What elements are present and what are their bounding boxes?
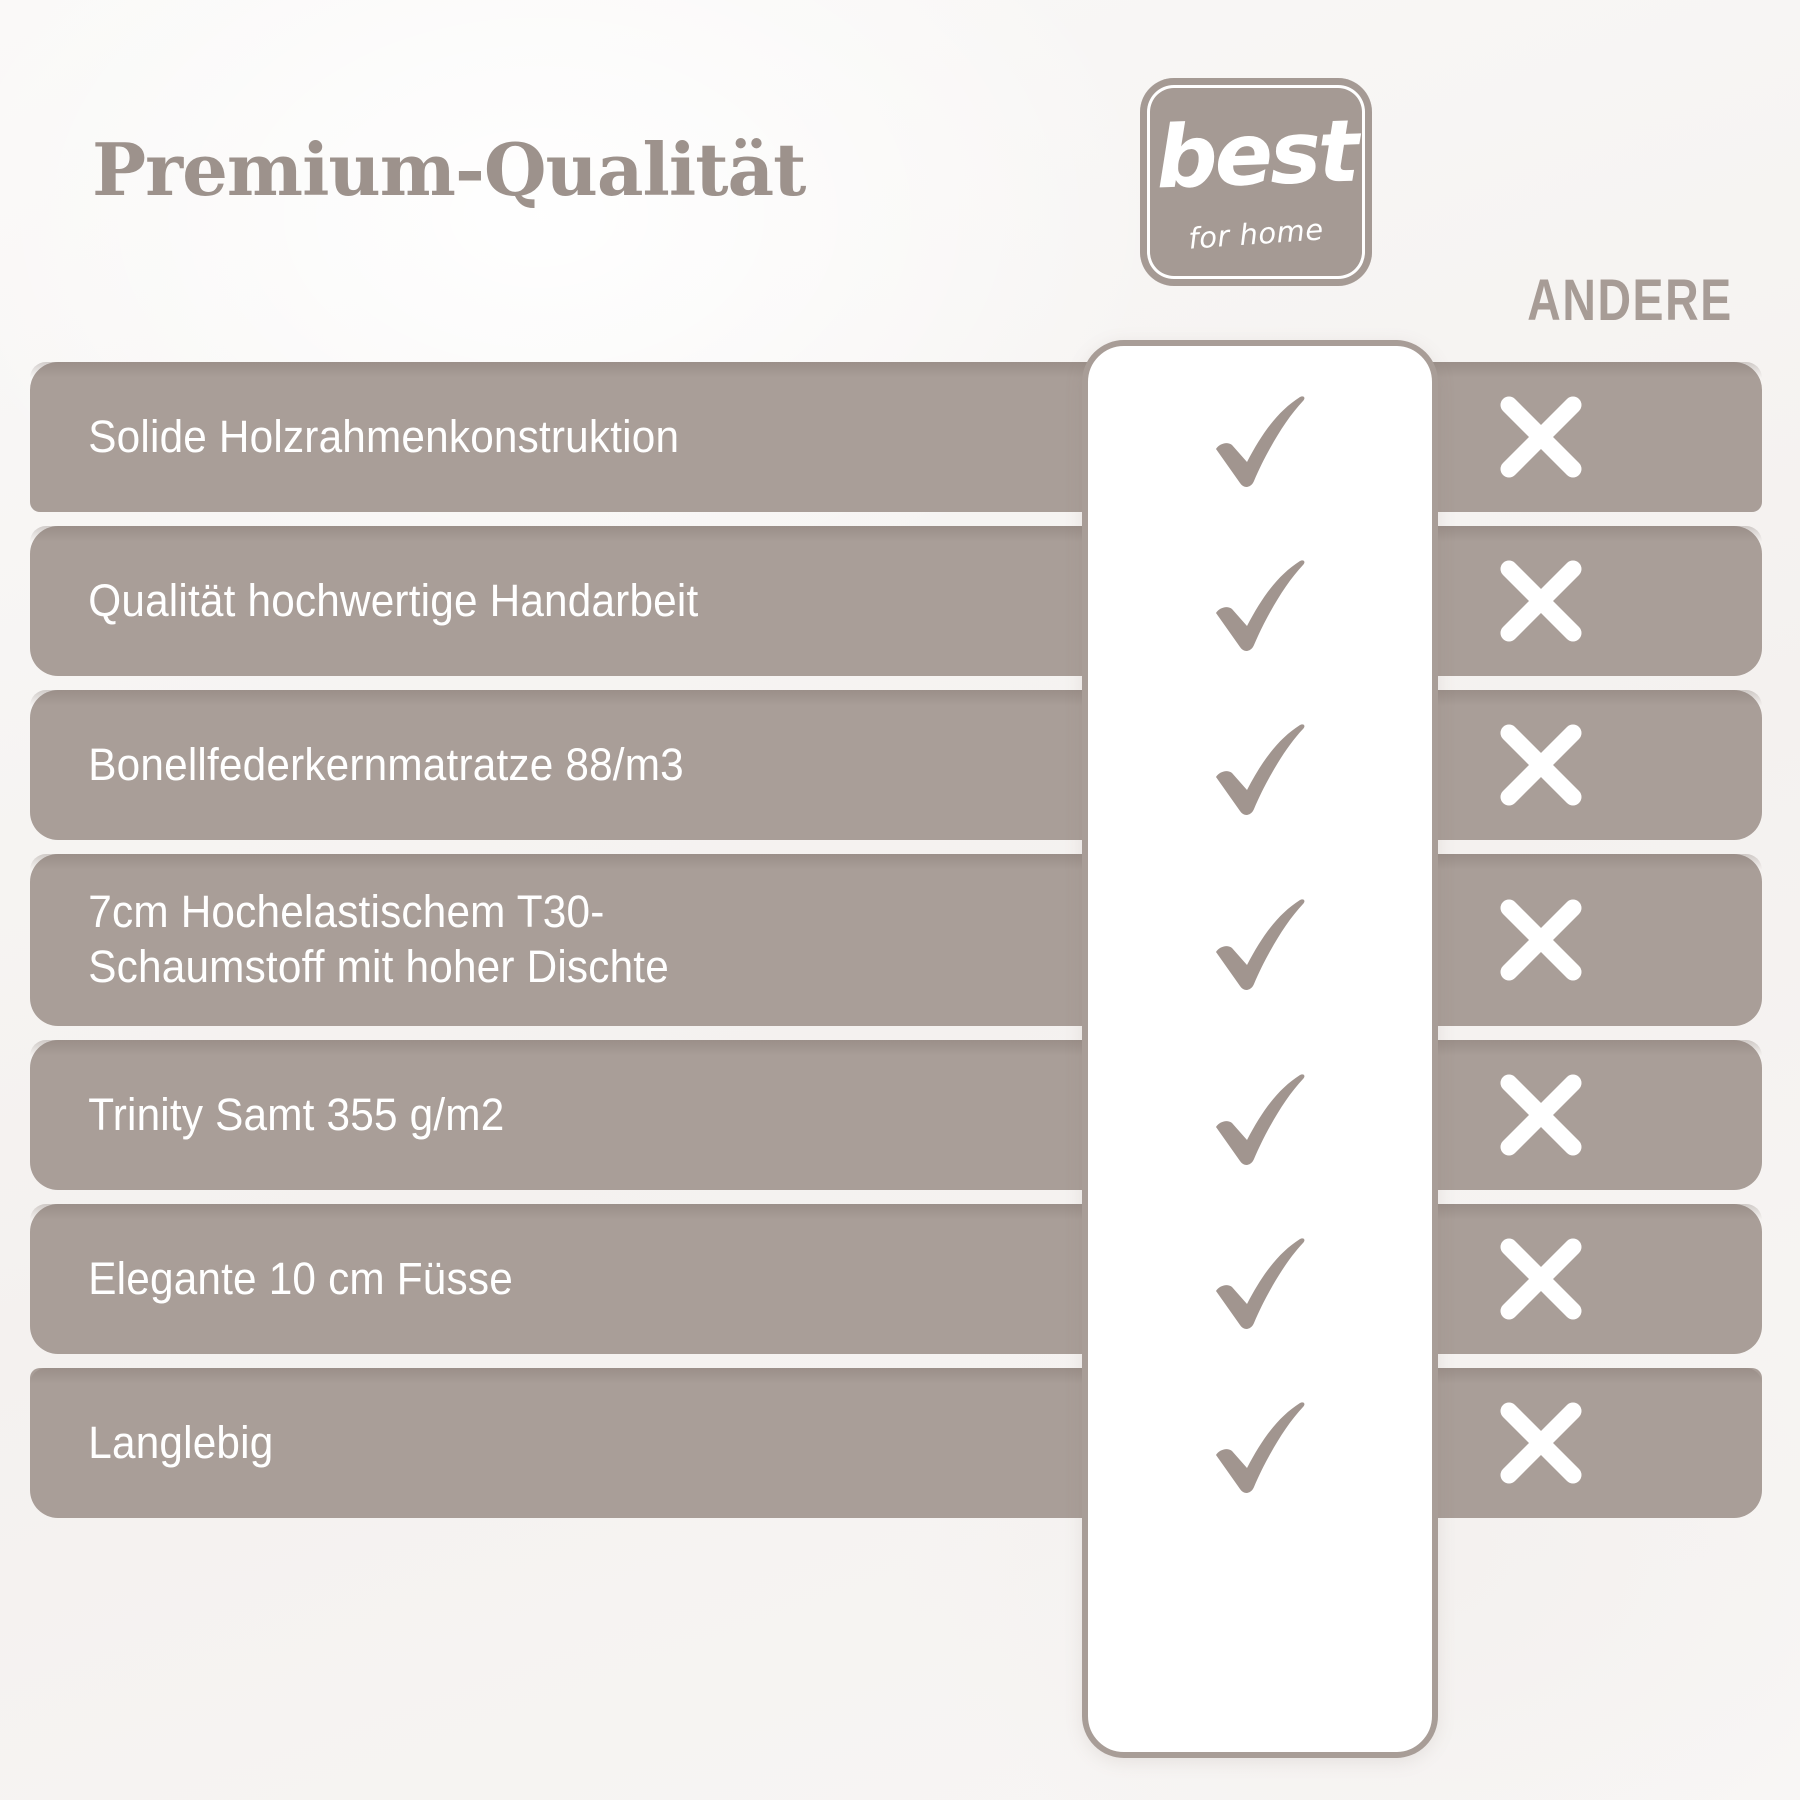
other-cell	[1320, 717, 1762, 813]
logo-primary-text: best	[1139, 108, 1374, 202]
comparison-infographic: Premium-Qualität best for home ANDERE So…	[0, 0, 1800, 1800]
row-top-shade	[30, 854, 1762, 870]
cross-icon	[1493, 717, 1589, 813]
row-top-shade	[30, 362, 1762, 378]
feature-label: Trinity Samt 355 g/m2	[30, 1088, 904, 1143]
row-top-shade	[30, 690, 1762, 706]
logo-secondary-text: for home	[1139, 212, 1372, 257]
row-top-shade	[30, 1204, 1762, 1220]
comparison-table: Solide HolzrahmenkonstruktionQualität ho…	[30, 362, 1762, 1518]
other-cell	[1320, 892, 1762, 988]
feature-label: 7cm Hochelastischem T30-Schaumstoff mit …	[30, 885, 904, 995]
feature-label-line1: Trinity Samt 355 g/m2	[88, 1089, 504, 1140]
feature-label: Qualität hochwertige Handarbeit	[30, 574, 904, 629]
other-cell	[1320, 1395, 1762, 1491]
competitor-column-header: ANDERE	[1522, 272, 1738, 330]
cross-icon	[1493, 1231, 1589, 1327]
cross-icon	[1493, 1395, 1589, 1491]
feature-label-line1: 7cm Hochelastischem T30-	[88, 886, 604, 937]
table-row: Bonellfederkernmatratze 88/m3	[30, 690, 1762, 840]
cross-icon	[1493, 1067, 1589, 1163]
feature-label-line1: Qualität hochwertige Handarbeit	[88, 575, 698, 626]
cross-icon	[1493, 389, 1589, 485]
feature-label: Bonellfederkernmatratze 88/m3	[30, 738, 904, 793]
feature-label: Langlebig	[30, 1416, 904, 1471]
feature-label-line1: Langlebig	[88, 1417, 273, 1468]
table-row: Langlebig	[30, 1368, 1762, 1518]
table-row: Elegante 10 cm Füsse	[30, 1204, 1762, 1354]
row-top-shade	[30, 1368, 1762, 1384]
feature-label: Elegante 10 cm Füsse	[30, 1252, 904, 1307]
feature-label-line1: Bonellfederkernmatratze 88/m3	[88, 739, 684, 790]
table-row: Qualität hochwertige Handarbeit	[30, 526, 1762, 676]
feature-label-line2: Schaumstoff mit hoher Dischte	[88, 940, 904, 995]
page-title: Premium-Qualität	[92, 132, 805, 208]
row-top-shade	[30, 526, 1762, 542]
brand-logo: best for home	[1140, 78, 1372, 286]
cross-icon	[1493, 553, 1589, 649]
table-row: Trinity Samt 355 g/m2	[30, 1040, 1762, 1190]
other-cell	[1320, 1231, 1762, 1327]
feature-label-line1: Solide Holzrahmenkonstruktion	[88, 411, 679, 462]
row-top-shade	[30, 1040, 1762, 1056]
other-cell	[1320, 553, 1762, 649]
feature-label-line1: Elegante 10 cm Füsse	[88, 1253, 513, 1304]
other-cell	[1320, 1067, 1762, 1163]
table-row: 7cm Hochelastischem T30-Schaumstoff mit …	[30, 854, 1762, 1026]
other-cell	[1320, 389, 1762, 485]
table-row: Solide Holzrahmenkonstruktion	[30, 362, 1762, 512]
cross-icon	[1493, 892, 1589, 988]
feature-label: Solide Holzrahmenkonstruktion	[30, 410, 904, 465]
